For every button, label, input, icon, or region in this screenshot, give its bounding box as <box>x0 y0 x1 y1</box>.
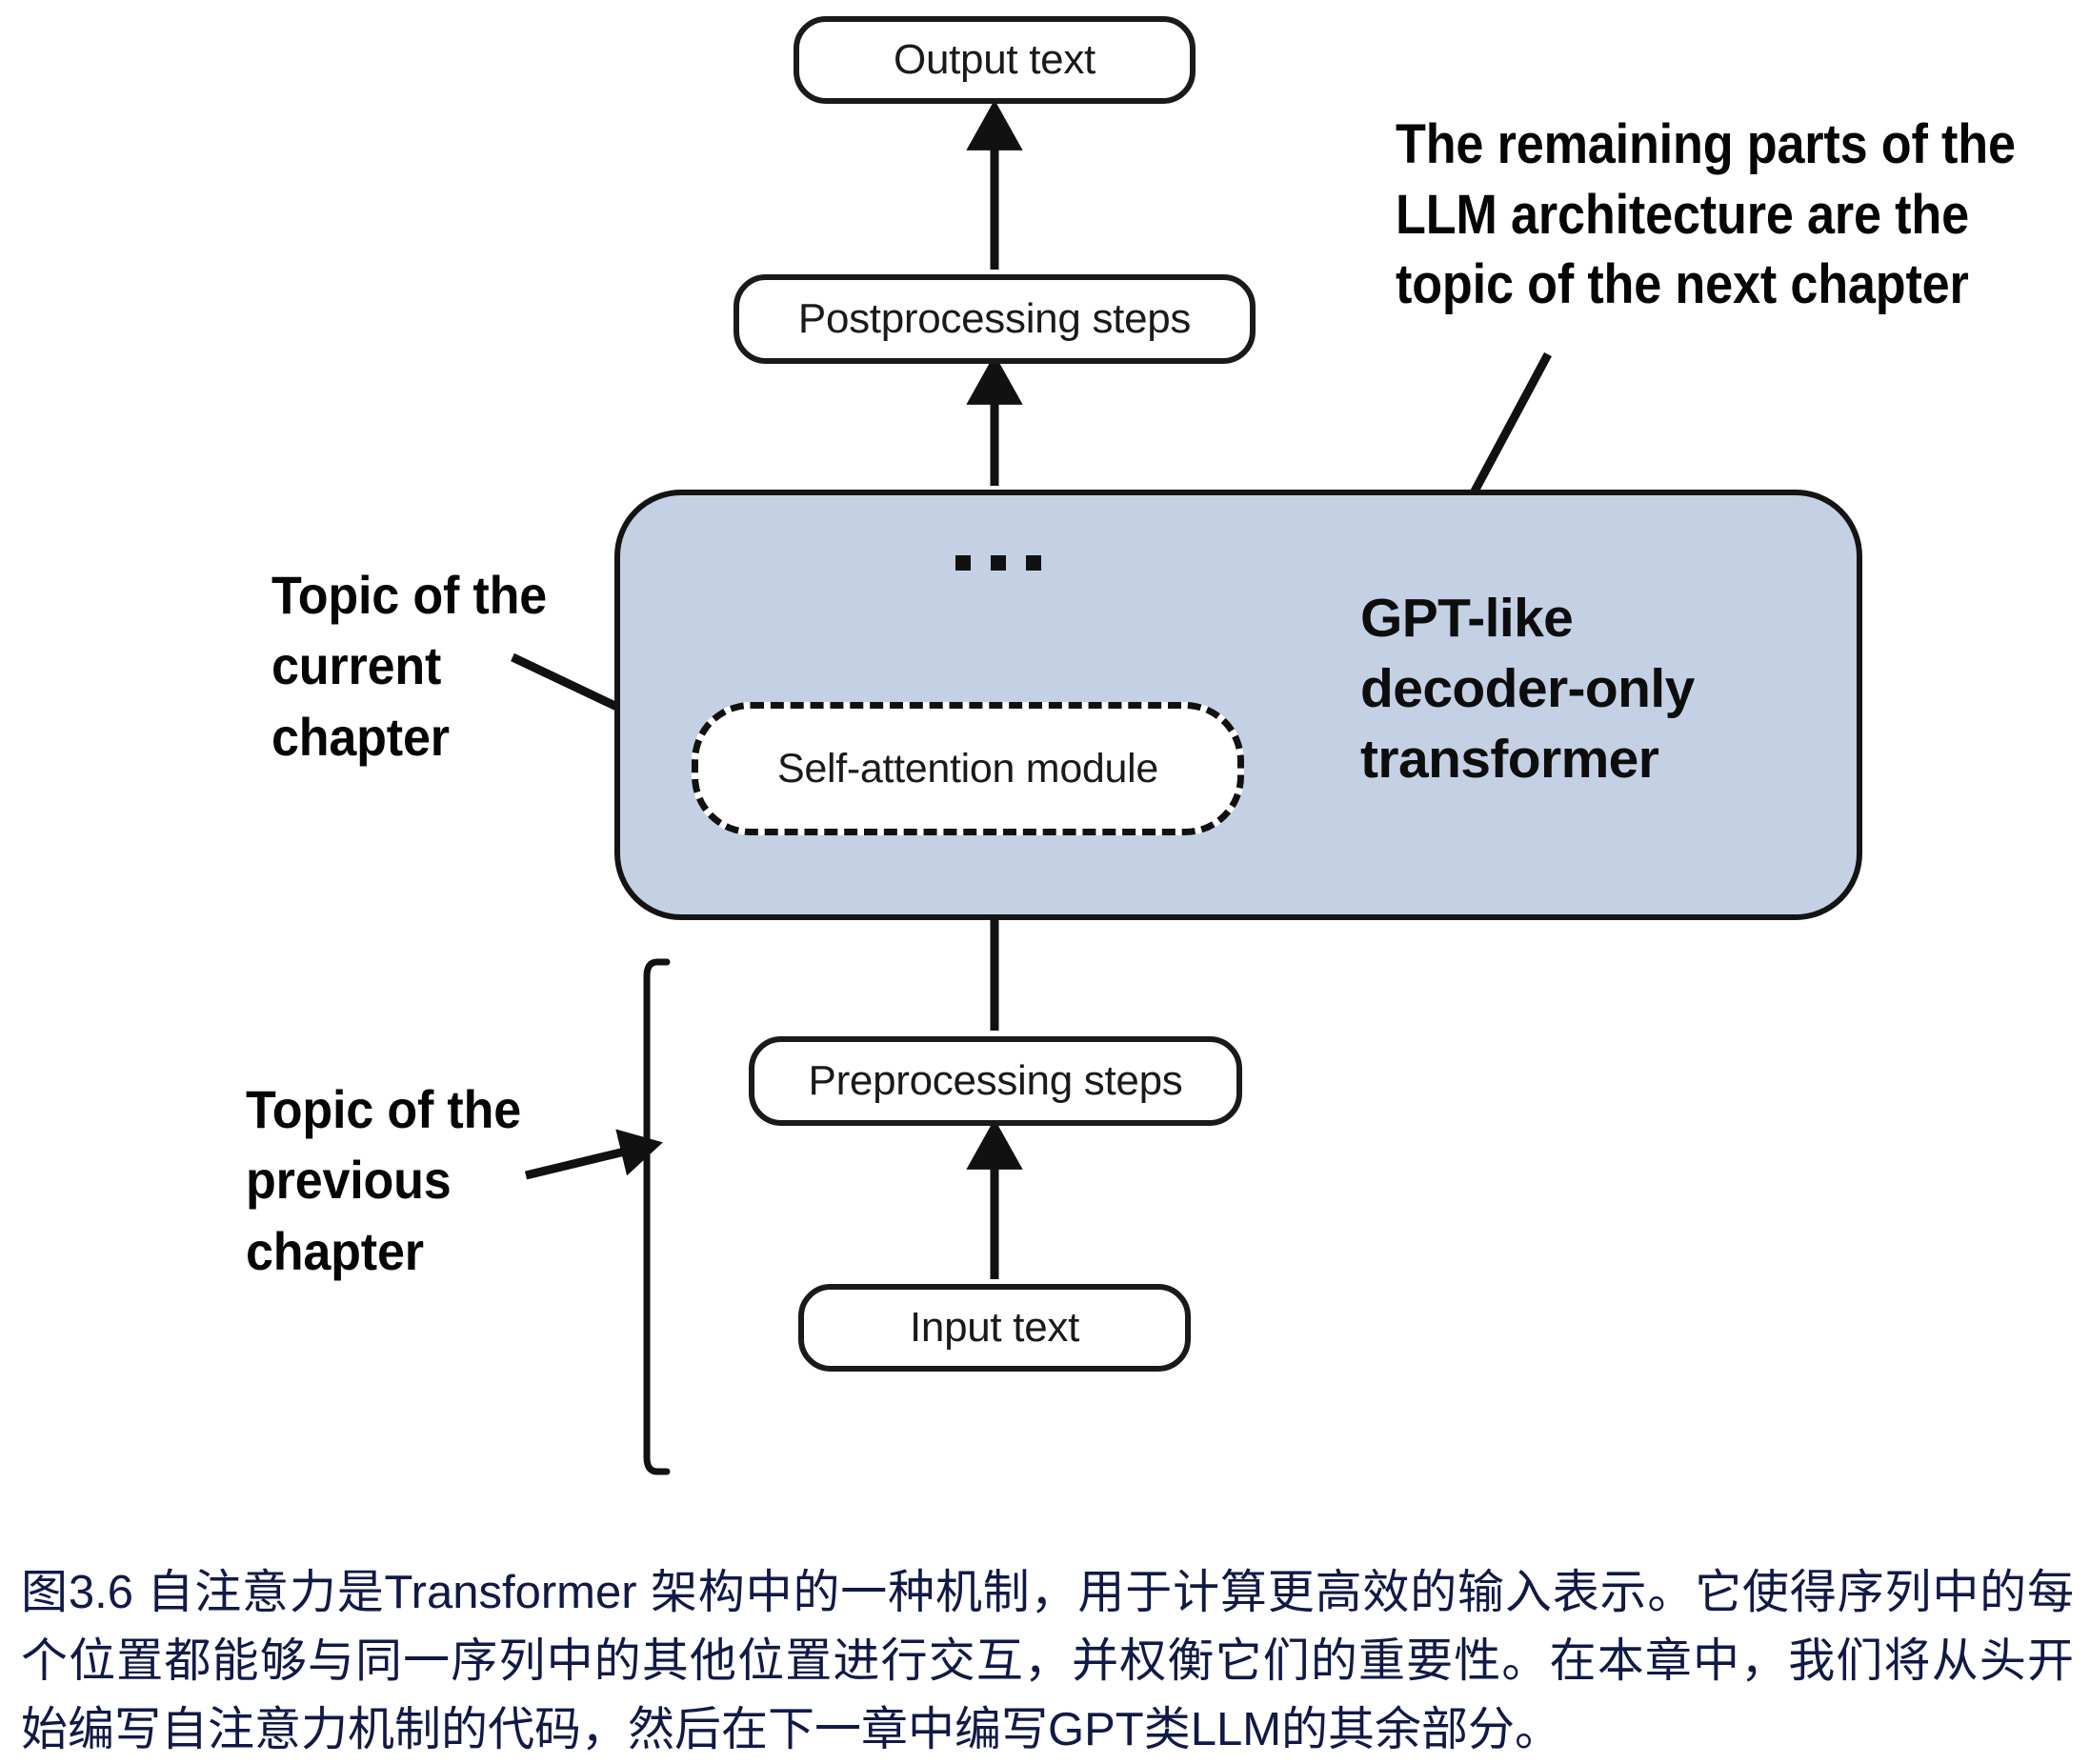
figure-diagram: GPT-like decoder-only transformer Output… <box>0 0 2090 1543</box>
figure-caption: 图3.6 自注意力是Transformer 架构中的一种机制，用于计算更高效的输… <box>21 1558 2074 1764</box>
callout-next-chapter-line3: topic of the next chapter <box>1396 250 2030 320</box>
callout-current-chapter: Topic of the current chapter <box>271 560 644 772</box>
previous-chapter-bracket <box>647 962 667 1472</box>
box-self-attention-module-label: Self-attention module <box>777 746 1158 792</box>
box-input-text: Input text <box>798 1284 1191 1372</box>
callout-previous-chapter-line2: previous <box>246 1145 627 1215</box>
callout-current-chapter-line3: chapter <box>271 702 644 772</box>
box-input-text-label: Input text <box>910 1307 1079 1349</box>
transformer-label-line1: GPT-like <box>1360 583 1856 653</box>
transformer-label-line2: decoder-only <box>1360 653 1856 724</box>
callout-next-chapter-line2: LLM architecture are the <box>1396 180 2030 251</box>
callout-current-chapter-line2: current <box>271 631 644 701</box>
box-self-attention-module: Self-attention module <box>692 702 1244 835</box>
box-output-text: Output text <box>794 16 1196 104</box>
callout-previous-chapter-line3: chapter <box>246 1216 627 1287</box>
callout-current-chapter-line1: Topic of the <box>271 560 644 631</box>
box-preprocessing-steps-label: Preprocessing steps <box>809 1060 1183 1102</box>
callout-next-chapter-line1: The remaining parts of the <box>1396 110 2030 180</box>
box-output-text-label: Output text <box>894 39 1095 81</box>
ellipsis-dot <box>955 555 971 571</box>
ellipsis-dot <box>1026 555 1041 571</box>
callout-previous-chapter-line1: Topic of the <box>246 1074 627 1145</box>
transformer-block-label: GPT-like decoder-only transformer <box>1360 583 1856 794</box>
callout-previous-chapter: Topic of the previous chapter <box>246 1074 627 1287</box>
box-postprocessing-steps: Postprocessing steps <box>734 274 1256 364</box>
transformer-label-line3: transformer <box>1360 724 1856 794</box>
ellipsis-dot <box>991 555 1006 571</box>
ellipsis-dots-icon <box>955 553 1041 572</box>
callout-next-chapter: The remaining parts of the LLM architect… <box>1396 110 2030 320</box>
box-postprocessing-steps-label: Postprocessing steps <box>798 298 1191 340</box>
box-preprocessing-steps: Preprocessing steps <box>749 1036 1242 1126</box>
